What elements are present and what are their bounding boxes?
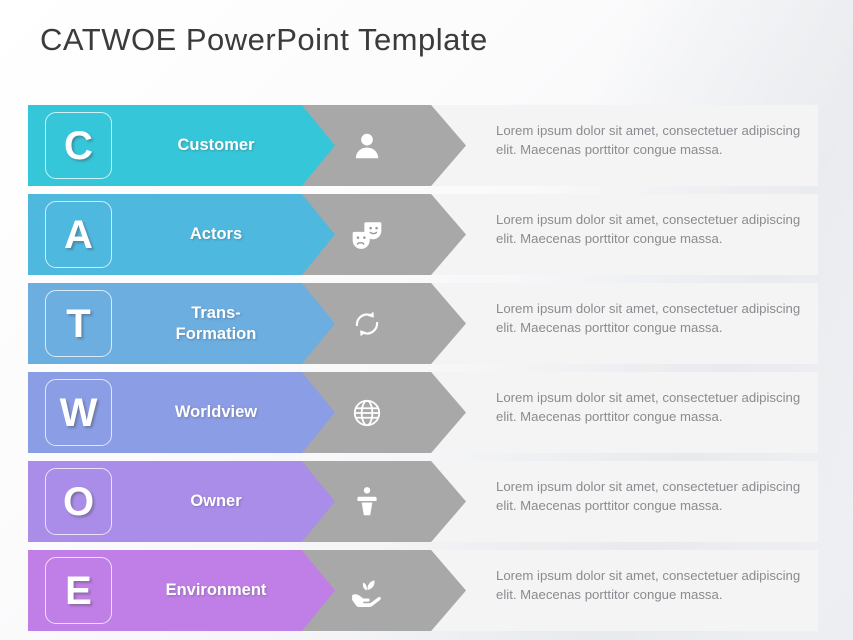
label-chevron[interactable]: TTrans- Formation: [28, 283, 335, 364]
letter-badge: W: [45, 379, 112, 446]
letter-badge: T: [45, 290, 112, 357]
letter-badge: C: [45, 112, 112, 179]
catwoe-row-list: Lorem ipsum dolor sit amet, consectetuer…: [0, 105, 853, 639]
description-text: Lorem ipsum dolor sit amet, consectetuer…: [496, 388, 804, 426]
letter-badge: E: [45, 557, 112, 624]
catwoe-row: Lorem ipsum dolor sit amet, consectetuer…: [0, 105, 853, 186]
page-title: CATWOE PowerPoint Template: [40, 22, 488, 58]
description-text: Lorem ipsum dolor sit amet, consectetuer…: [496, 566, 804, 604]
description-text: Lorem ipsum dolor sit amet, consectetuer…: [496, 210, 804, 248]
row-label: Actors: [120, 194, 312, 275]
catwoe-row: Lorem ipsum dolor sit amet, consectetuer…: [0, 194, 853, 275]
letter-badge: A: [45, 201, 112, 268]
label-chevron[interactable]: OOwner: [28, 461, 335, 542]
catwoe-row: Lorem ipsum dolor sit amet, consectetuer…: [0, 283, 853, 364]
catwoe-row: Lorem ipsum dolor sit amet, consectetuer…: [0, 372, 853, 453]
label-chevron[interactable]: EEnvironment: [28, 550, 335, 631]
label-chevron[interactable]: CCustomer: [28, 105, 335, 186]
letter-text: W: [60, 393, 98, 433]
letter-badge: O: [45, 468, 112, 535]
catwoe-row: Lorem ipsum dolor sit amet, consectetuer…: [0, 461, 853, 542]
row-label: Trans- Formation: [120, 283, 312, 364]
letter-text: A: [64, 215, 93, 255]
row-label: Owner: [120, 461, 312, 542]
letter-text: E: [65, 571, 92, 611]
label-chevron[interactable]: AActors: [28, 194, 335, 275]
row-label: Customer: [120, 105, 312, 186]
catwoe-row: Lorem ipsum dolor sit amet, consectetuer…: [0, 550, 853, 631]
letter-text: C: [64, 126, 93, 166]
description-text: Lorem ipsum dolor sit amet, consectetuer…: [496, 477, 804, 515]
label-chevron[interactable]: WWorldview: [28, 372, 335, 453]
description-text: Lorem ipsum dolor sit amet, consectetuer…: [496, 121, 804, 159]
row-label: Worldview: [120, 372, 312, 453]
letter-text: T: [66, 304, 90, 344]
row-label: Environment: [120, 550, 312, 631]
letter-text: O: [63, 482, 94, 522]
description-text: Lorem ipsum dolor sit amet, consectetuer…: [496, 299, 804, 337]
